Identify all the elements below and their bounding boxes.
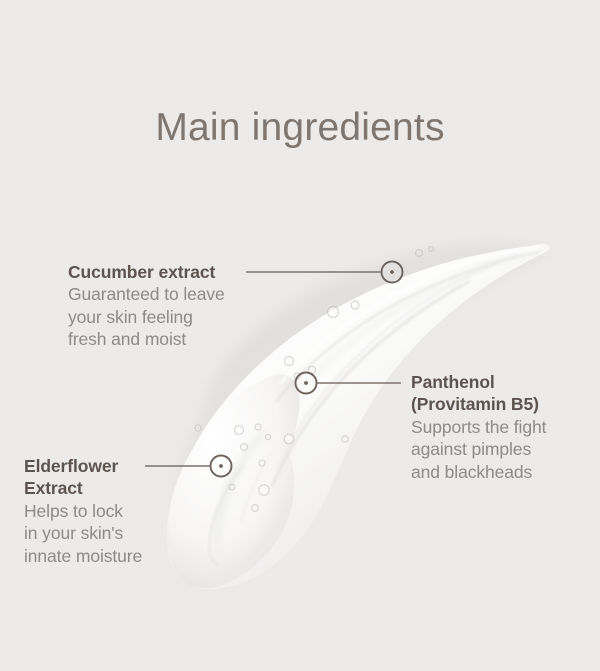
callout-panthenol-heading-line-2: (Provitamin B5)	[411, 393, 546, 415]
marker-cucumber[interactable]	[382, 262, 403, 283]
callout-cucumber-body-line-1: Guaranteed to leave	[68, 283, 225, 305]
callout-panthenol-body-line-1: Supports the fight	[411, 416, 546, 438]
callout-cucumber-body-line-2: your skin feeling	[68, 306, 225, 328]
callout-elderflower: Elderflower Extract Helps to lock in you…	[24, 455, 142, 567]
callout-cucumber-heading: Cucumber extract	[68, 261, 225, 283]
callout-panthenol-body-line-3: and blackheads	[411, 461, 546, 483]
marker-panthenol[interactable]	[296, 373, 317, 394]
callout-panthenol: Panthenol (Provitamin B5) Supports the f…	[411, 371, 546, 483]
callout-elderflower-heading-line-1: Elderflower	[24, 455, 142, 477]
callout-elderflower-heading-line-2: Extract	[24, 477, 142, 499]
callout-cucumber: Cucumber extract Guaranteed to leave you…	[68, 261, 225, 351]
page-title: Main ingredients	[0, 108, 600, 149]
callout-panthenol-body-line-2: against pimples	[411, 438, 546, 460]
marker-elderflower[interactable]	[211, 456, 232, 477]
callout-cucumber-body-line-3: fresh and moist	[68, 328, 225, 350]
callout-elderflower-body-line-3: innate moisture	[24, 545, 142, 567]
callout-elderflower-body-line-2: in your skin's	[24, 522, 142, 544]
callout-elderflower-body-line-1: Helps to lock	[24, 500, 142, 522]
callout-panthenol-heading-line-1: Panthenol	[411, 371, 546, 393]
infographic-canvas: Main ingredients Cucumber extract Guaran…	[0, 0, 600, 671]
